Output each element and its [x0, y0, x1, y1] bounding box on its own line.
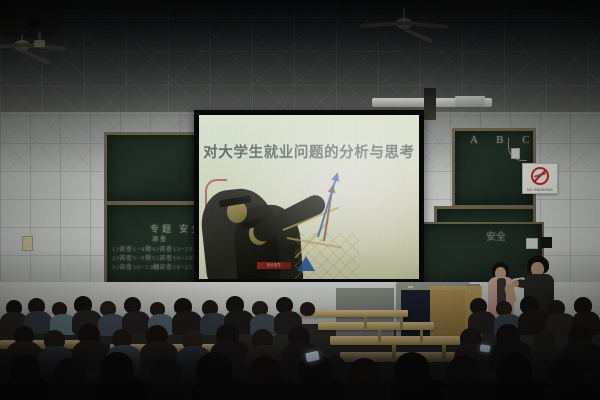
- slide-red-banner: 就业指导: [257, 262, 291, 269]
- desk: [318, 322, 434, 330]
- projector-bracket: [424, 88, 436, 120]
- projected-slide: 对大学生就业问题的分析与思考 就业指导: [199, 115, 419, 279]
- slide-blue-badge-icon: [297, 256, 315, 271]
- no-smoking-sign: NO SMOKING: [522, 163, 558, 194]
- wall-plate-left: [22, 236, 33, 251]
- phone-screen: [480, 344, 491, 352]
- wall-outlet: [526, 238, 538, 249]
- screen-bracket-right: [455, 96, 485, 107]
- chalk-text-subheading: 调查: [152, 234, 168, 243]
- wall-jack: [511, 148, 520, 159]
- wall-junction-box: [541, 237, 552, 248]
- desk: [300, 310, 408, 317]
- projection-screen: 对大学生就业问题的分析与思考 就业指导: [194, 110, 424, 288]
- ceiling-shadow-overlay: [0, 0, 600, 120]
- presenter-hand: [512, 280, 519, 287]
- chalk-text-row: 2)调查5~9题: [112, 253, 152, 262]
- lectern-fitting: [408, 286, 413, 288]
- chalk-text-row: 6)调查19~21题: [152, 262, 200, 271]
- slide-red-banner-label: 就业指导: [257, 262, 291, 269]
- lecture-hall-scene: A B C 专题 安全 调查 1)调查1~4题 2)调查5~9题 3)调查10~…: [0, 0, 600, 400]
- chalk-text-row: 4)调查13~15题: [152, 244, 200, 253]
- chalk-text-row: 5)调查16~18题: [152, 253, 200, 262]
- no-smoking-label: NO SMOKING: [523, 188, 557, 192]
- chalk-text-abc: A B C: [470, 134, 538, 146]
- audience: [0, 296, 600, 400]
- chalk-text-row: 1)调查1~4题: [112, 244, 152, 253]
- chalk-text-behind: 安全: [486, 228, 506, 243]
- slide-title: 对大学生就业问题的分析与思考: [199, 141, 419, 162]
- blackboard-left-upper: [104, 132, 200, 204]
